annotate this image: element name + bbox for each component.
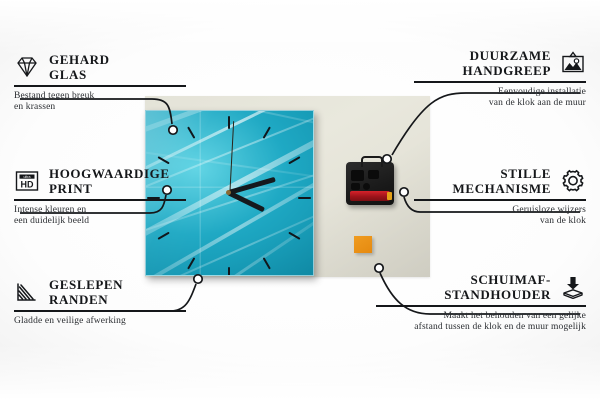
clock-tick — [228, 116, 230, 129]
feature-description: Eenvoudige installatievan de klok aan de… — [414, 87, 586, 110]
picture-frame-icon — [560, 51, 586, 75]
feature-title: GEHARDGLAS — [49, 52, 110, 82]
feature-description: Maakt het behouden van een gelijkeafstan… — [376, 311, 586, 334]
feature-gehard-glas: GEHARDGLAS Bestand tegen breuken krassen — [14, 52, 186, 114]
battery — [350, 191, 390, 201]
feature-stille-mechanisme: STILLEMECHANISME Geruisloze wijzersvan d… — [414, 166, 586, 228]
product-infographic: GEHARDGLAS Bestand tegen breuken krassen… — [0, 0, 600, 400]
clock-tick — [298, 197, 311, 199]
feature-rule — [14, 85, 186, 87]
mechanism-slot — [351, 183, 360, 190]
feature-title: DUURZAMEHANDGREEP — [463, 48, 551, 78]
feature-title: HOOGWAARDIGEPRINT — [49, 166, 170, 196]
feature-header: GESLEPENRANDEN — [14, 277, 186, 307]
feature-header: ultra HD HOOGWAARDIGEPRINT — [14, 166, 186, 196]
feature-header: DUURZAMEHANDGREEP — [414, 48, 586, 78]
mechanism-hanger-icon — [361, 156, 383, 167]
feature-description: Geruisloze wijzersvan de klok — [414, 205, 586, 228]
feature-hoogwaardige-print: ultra HD HOOGWAARDIGEPRINT Intense kleur… — [14, 166, 186, 228]
gear-icon — [560, 169, 586, 193]
feature-geslepen-randen: GESLEPENRANDEN Gladde en veilige afwerki… — [14, 277, 186, 327]
svg-text:ultra: ultra — [24, 175, 31, 179]
quartz-mechanism — [346, 162, 394, 205]
feature-description: Bestand tegen breuken krassen — [14, 91, 186, 114]
ultra-hd-icon: ultra HD — [14, 169, 40, 193]
feature-header: GEHARDGLAS — [14, 52, 186, 82]
feature-title: GESLEPENRANDEN — [49, 277, 123, 307]
beveled-edge-icon — [14, 280, 40, 304]
feature-description: Gladde en veilige afwerking — [14, 316, 186, 328]
battery-terminal — [387, 192, 392, 200]
feature-description: Intense kleuren eneen duidelijk beeld — [14, 205, 186, 228]
mechanism-slot — [363, 183, 370, 190]
feature-title: SCHUIMAF-STANDHOUDER — [444, 272, 551, 302]
feature-rule — [414, 199, 586, 201]
mechanism-slot — [368, 170, 379, 179]
feature-duurzame-handgreep: DUURZAMEHANDGREEP Eenvoudige installatie… — [414, 48, 586, 110]
feature-schuimafstandhouder: SCHUIMAF-STANDHOUDER Maakt het behouden … — [376, 272, 586, 334]
svg-text:HD: HD — [21, 180, 34, 190]
feature-rule — [14, 199, 186, 201]
feature-rule — [414, 81, 586, 83]
foam-spacer — [354, 236, 372, 253]
feature-header: SCHUIMAF-STANDHOUDER — [376, 272, 586, 302]
clock-center-pin — [226, 190, 231, 195]
feature-rule — [14, 310, 186, 312]
feature-title: STILLEMECHANISME — [453, 166, 551, 196]
clock-tick — [228, 267, 230, 276]
spacer-stamp-icon — [560, 275, 586, 299]
diamond-icon — [14, 55, 40, 79]
mechanism-slot — [351, 170, 364, 181]
feature-rule — [376, 305, 586, 307]
feature-header: STILLEMECHANISME — [414, 166, 586, 196]
